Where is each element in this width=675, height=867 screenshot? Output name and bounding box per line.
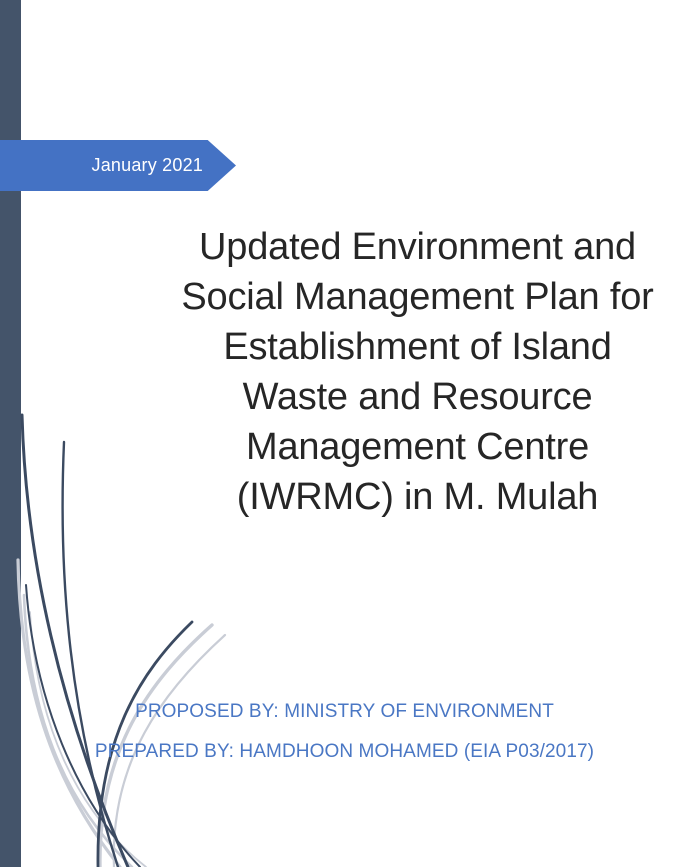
title-line-1: Updated Environment and <box>165 222 670 272</box>
date-banner: January 2021 <box>0 140 236 191</box>
document-cover-page: January 2021 Updated Environment and Soc… <box>0 0 675 867</box>
title-line-4: Waste and Resource <box>165 372 670 422</box>
footer-credits: PROPOSED BY: MINISTRY OF ENVIRONMENT PRE… <box>22 692 667 772</box>
title-line-2: Social Management Plan for <box>165 272 670 322</box>
title-line-5: Management Centre <box>165 422 670 472</box>
title-line-6: (IWRMC) in M. Mulah <box>165 472 670 522</box>
date-banner-label: January 2021 <box>92 155 236 176</box>
proposed-by-line: PROPOSED BY: MINISTRY OF ENVIRONMENT <box>22 692 667 732</box>
left-accent-bar <box>0 0 21 867</box>
prepared-by-line: PREPARED BY: HAMDHOON MOHAMED (EIA P03/2… <box>22 732 667 772</box>
title-line-3: Establishment of Island <box>165 322 670 372</box>
page-title: Updated Environment and Social Managemen… <box>165 222 670 522</box>
